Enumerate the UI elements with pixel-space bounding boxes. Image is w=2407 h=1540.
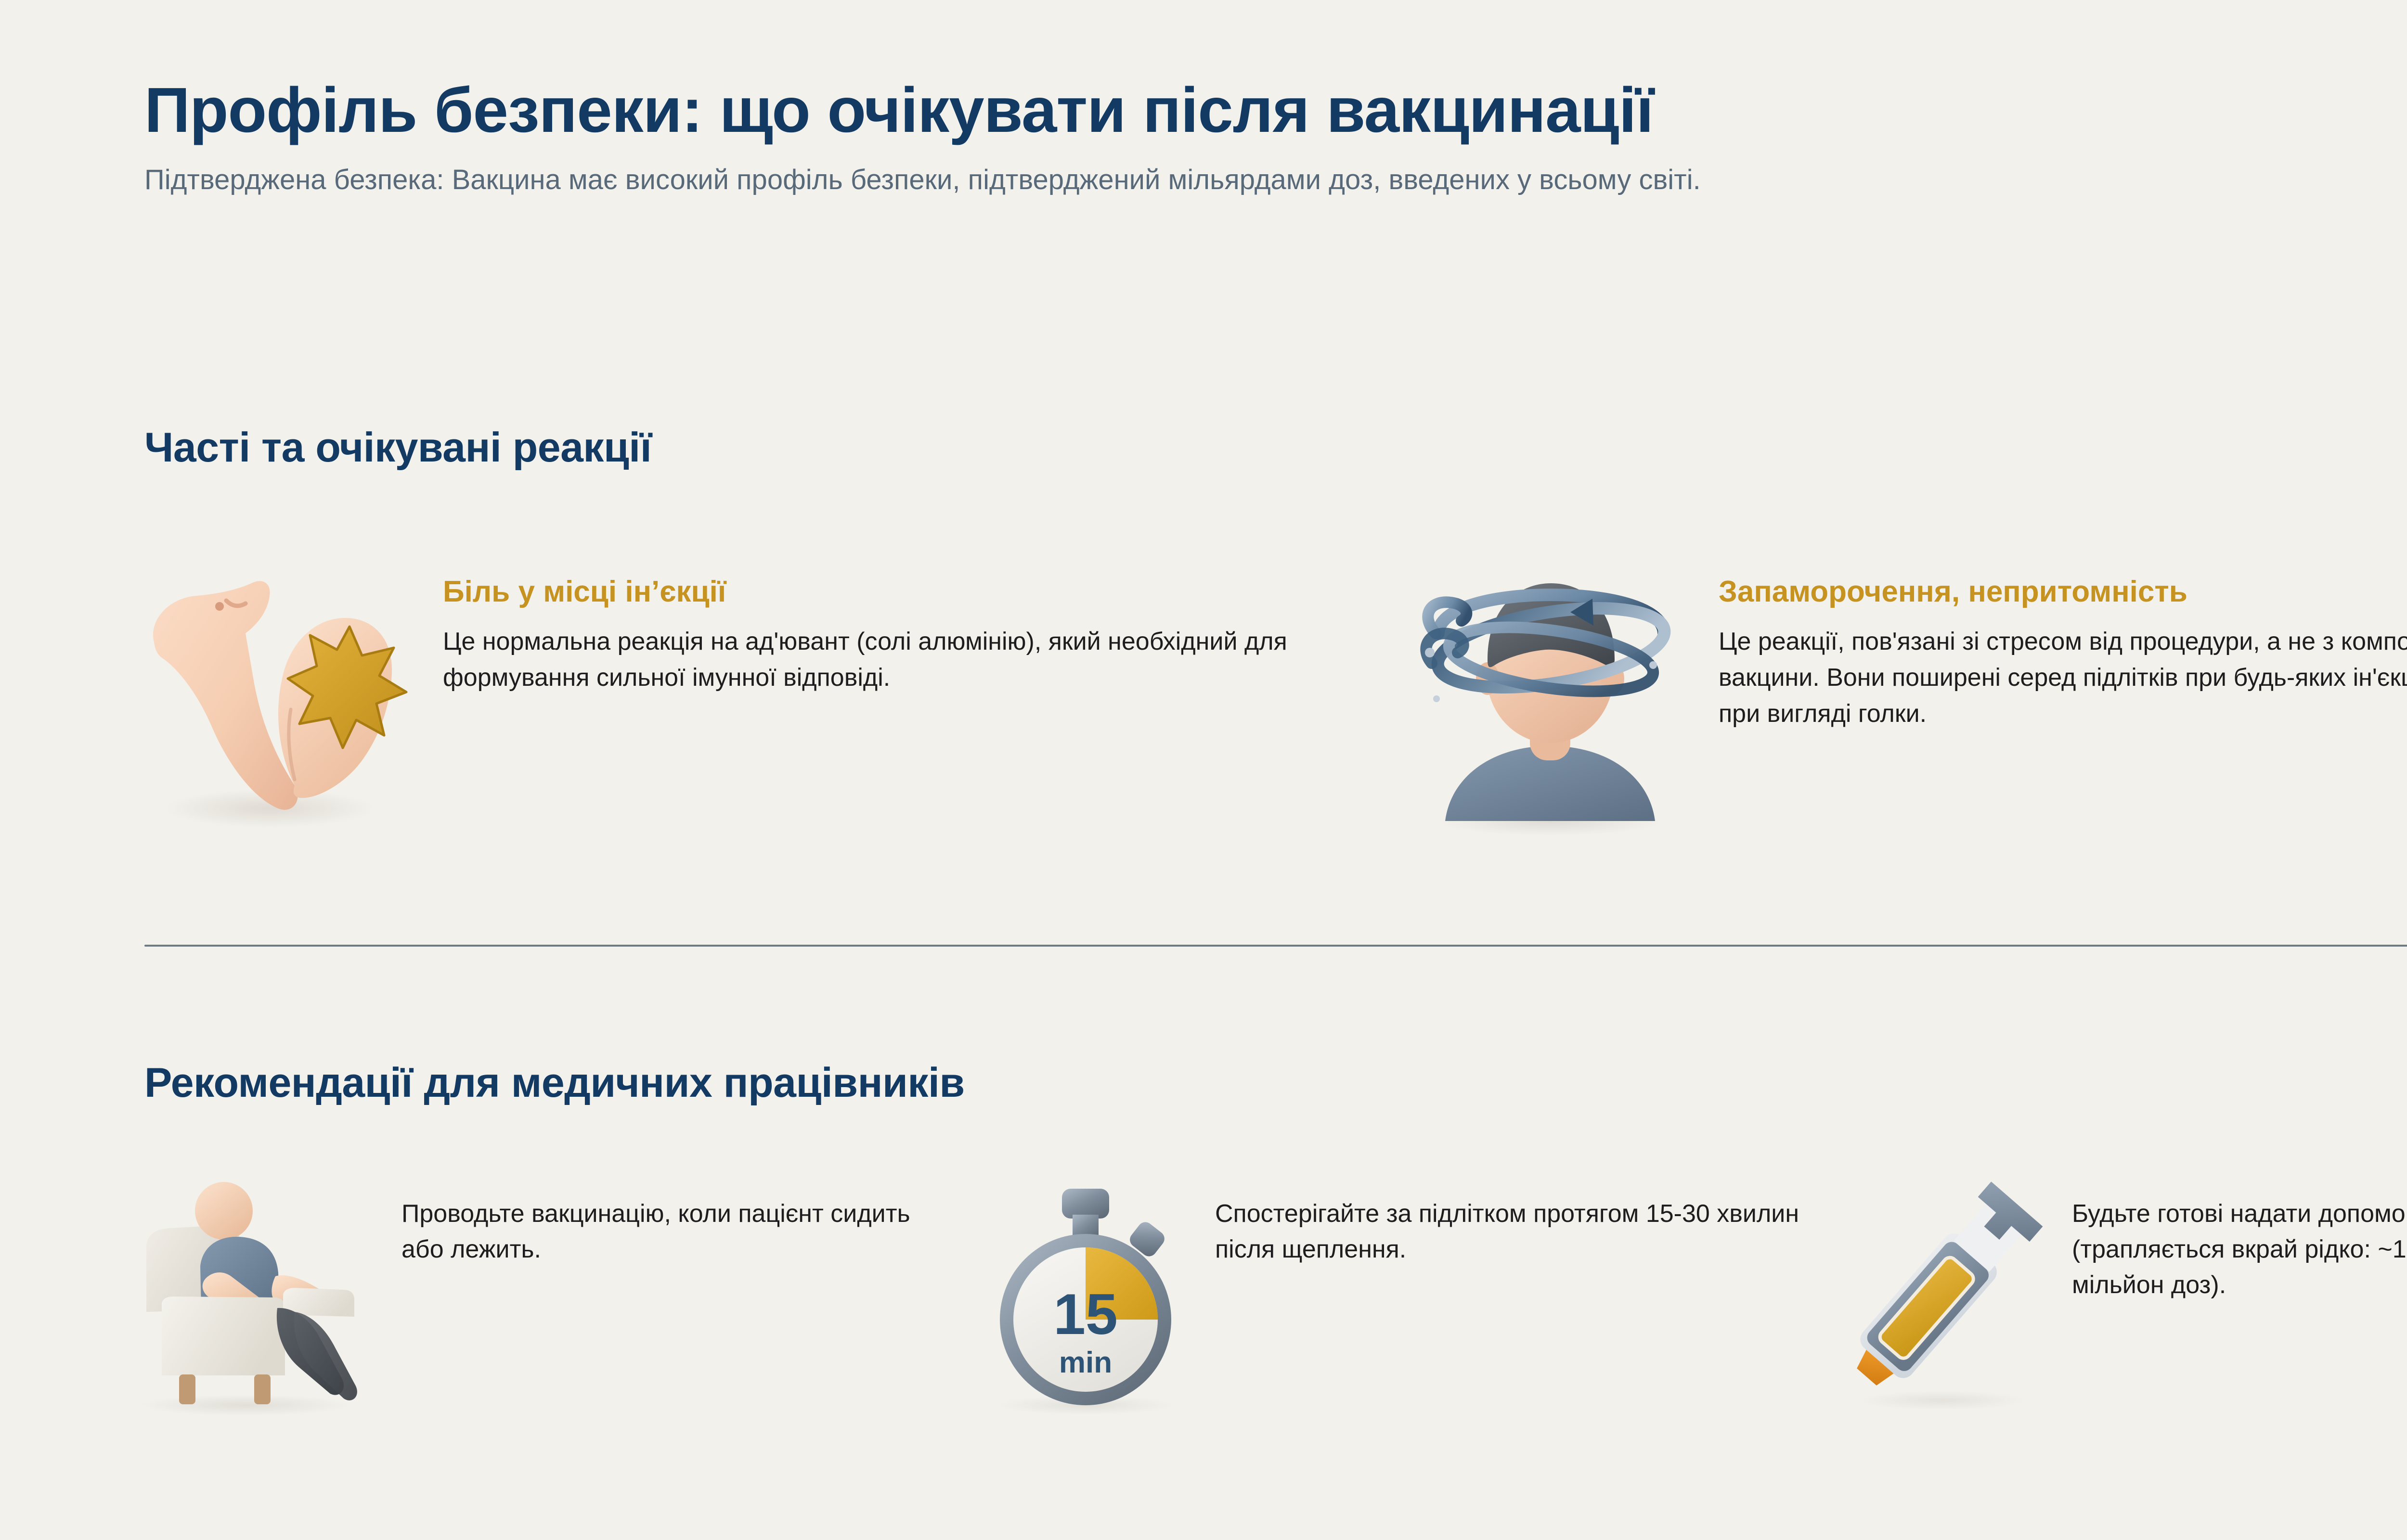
reaction-body: Це нормальна реакція на ад'ювант (солі а… [443, 624, 1309, 696]
recommendation-body: Будьте готові надати допомогу при анафіл… [2072, 1165, 2407, 1303]
epinephrine-auto-injector-icon [1829, 1165, 2056, 1415]
stopwatch-unit: min [1059, 1346, 1112, 1379]
recommendation-body: Спостерігайте за підлітком протягом 15-3… [1215, 1165, 1810, 1268]
section-divider [144, 945, 2407, 947]
stopwatch-15-min-icon: 15 min [972, 1165, 1199, 1415]
common-reactions-row: Біль у місці ін’єкції Це нормальна реакц… [125, 539, 2407, 837]
recommendation-card-seated-patient: Проводьте вакцинацію, коли пацієнт сидит… [116, 1165, 953, 1415]
reaction-card-injection-pain: Біль у місці ін’єкції Це нормальна реакц… [125, 539, 1348, 837]
flexed-arm-injection-pain-icon [125, 539, 424, 837]
recommendations-row: Проводьте вакцинацію, коли пацієнт сидит… [116, 1165, 2407, 1415]
reaction-text-block: Біль у місці ін’єкції Це нормальна реакц… [443, 539, 1348, 696]
page-title: Профіль безпеки: що очікувати після вакц… [144, 77, 2407, 144]
header: Профіль безпеки: що очікувати після вакц… [144, 77, 2407, 200]
recommendation-card-anaphylaxis-readiness: Будьте готові надати допомогу при анафіл… [1829, 1165, 2407, 1415]
reaction-card-dizziness: Запаморочення, непритомність Це реакції,… [1401, 539, 2407, 837]
stopwatch-value: 15 [1053, 1282, 1117, 1347]
infographic-page: Профіль безпеки: що очікувати після вакц… [0, 0, 2407, 1540]
page-subtitle: Підтверджена безпека: Вакцина має високи… [144, 160, 2407, 200]
reaction-title: Запаморочення, непритомність [1719, 576, 2407, 608]
recommendation-body: Проводьте вакцинацію, коли пацієнт сидит… [401, 1165, 953, 1268]
recommendation-card-observation-window: 15 min Спостерігайте за підлітком протяг… [972, 1165, 1810, 1415]
reaction-body: Це реакції, пов'язані зі стресом від про… [1719, 624, 2407, 732]
reaction-title: Біль у місці ін’єкції [443, 576, 1348, 608]
reaction-text-block: Запаморочення, непритомність Це реакції,… [1719, 539, 2407, 732]
section-heading-hcp-recommendations: Рекомендації для медичних працівників [144, 1059, 965, 1107]
dizzy-head-spinning-icon [1401, 539, 1699, 837]
section-heading-common-reactions: Часті та очікувані реакції [144, 424, 651, 472]
person-seated-armchair-icon [116, 1165, 385, 1415]
